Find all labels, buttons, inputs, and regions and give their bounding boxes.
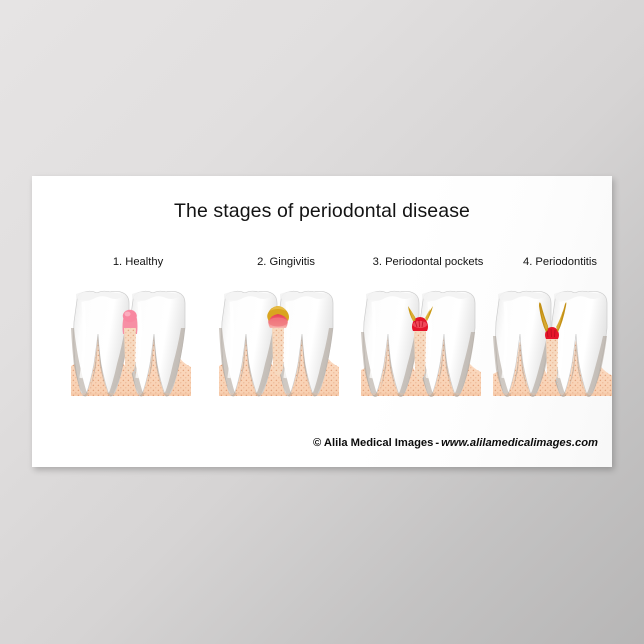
stage-illustrations bbox=[32, 284, 612, 409]
stage-diagram-gingivitis bbox=[215, 284, 357, 409]
stage-diagram-periodontal-pockets bbox=[357, 284, 499, 409]
gingival-papilla-pockets bbox=[412, 317, 428, 380]
gingival-papilla-periodontitis bbox=[545, 327, 559, 383]
copyright-text: © Alila Medical Images bbox=[313, 437, 433, 449]
stage-diagram-periodontitis bbox=[489, 284, 612, 409]
stage-label-gingivitis: 2. Gingivitis bbox=[257, 256, 315, 268]
credit-separator: - bbox=[433, 437, 441, 449]
backdrop: The stages of periodontal disease 1. Hea… bbox=[0, 0, 644, 644]
poster-surface: The stages of periodontal disease 1. Hea… bbox=[32, 176, 612, 467]
stage-labels: 1. Healthy 2. Gingivitis 3. Periodontal … bbox=[32, 256, 612, 272]
stage-label-periodontitis: 4. Periodontitis bbox=[523, 256, 597, 268]
poster: The stages of periodontal disease 1. Hea… bbox=[32, 176, 612, 467]
stage-label-healthy: 1. Healthy bbox=[113, 256, 163, 268]
website-url: www.alilamedicalimages.com bbox=[441, 437, 598, 449]
credit-line: © Alila Medical Images-www.alilamedicali… bbox=[313, 437, 598, 449]
stage-label-periodontal-pockets: 3. Periodontal pockets bbox=[373, 256, 484, 268]
stage-diagram-healthy bbox=[67, 284, 209, 409]
page-title: The stages of periodontal disease bbox=[32, 200, 612, 223]
gingival-papilla-healthy bbox=[123, 310, 138, 374]
